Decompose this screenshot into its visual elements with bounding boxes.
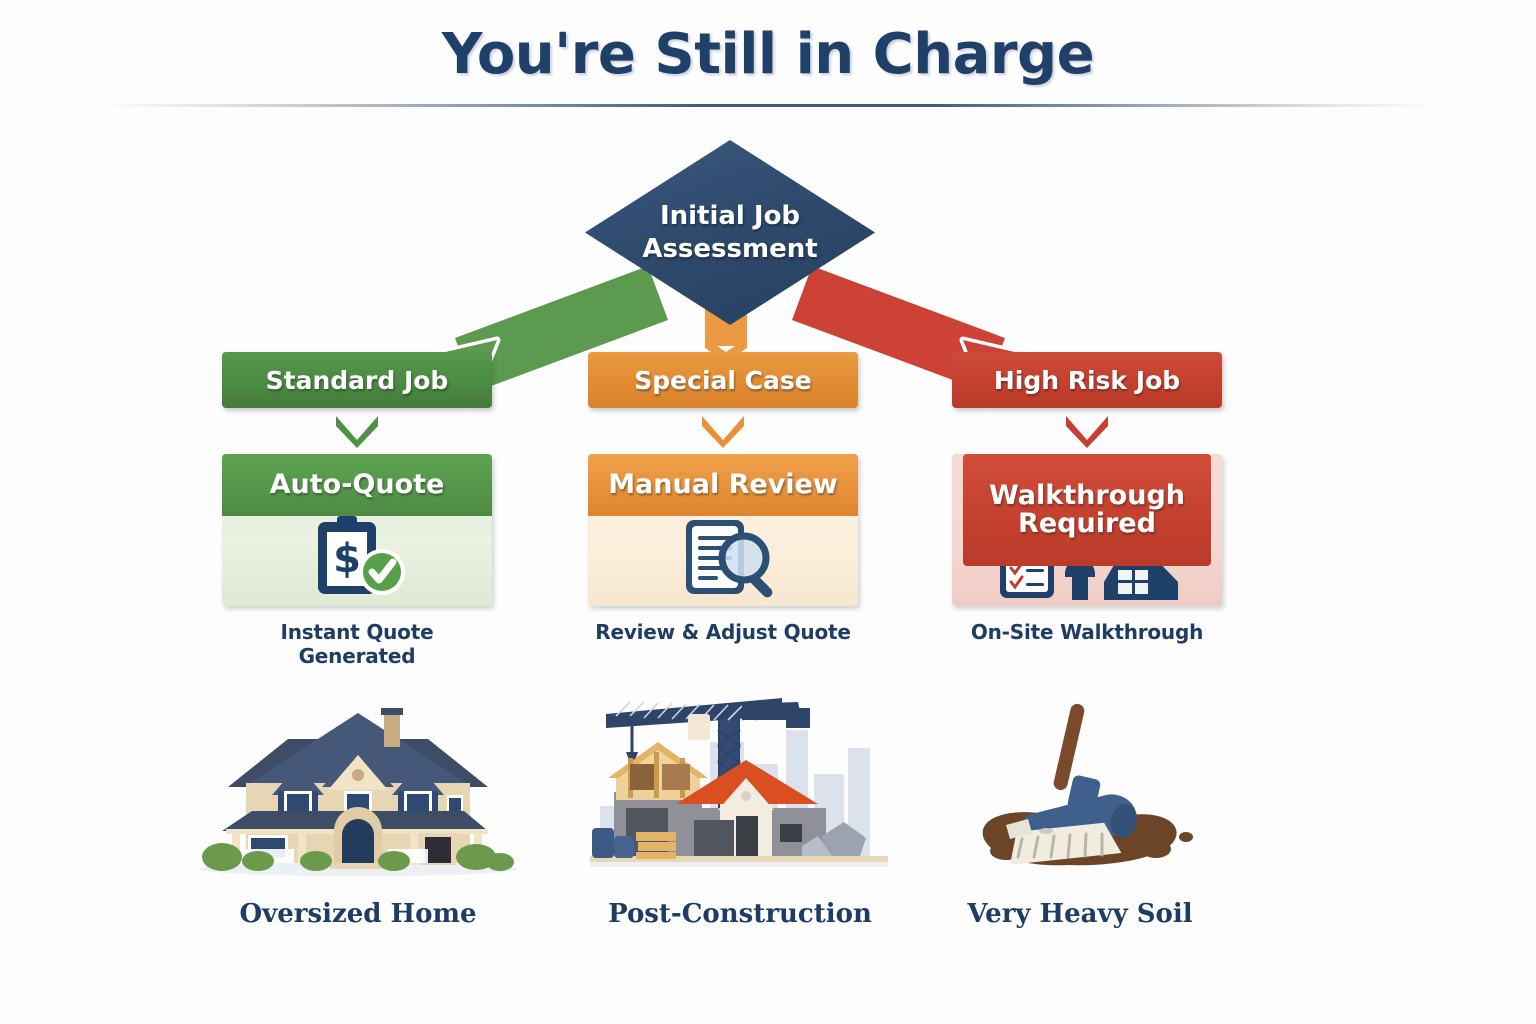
card-manual-review-title-text: Manual Review <box>608 471 838 499</box>
card-walkthrough-required[interactable]: Walkthrough Required <box>952 454 1222 606</box>
diamond-label-line1: Initial Job <box>660 200 800 233</box>
banner-standard-job-label: Standard Job <box>266 366 449 395</box>
infographic-canvas: You're Still in Charge Initial Job As <box>0 0 1536 1024</box>
card-auto-quote-title-text: Auto-Quote <box>270 471 445 499</box>
page-title: You're Still in Charge <box>0 22 1536 87</box>
example-oversized-home: Oversized Home <box>178 686 538 929</box>
banner-high-risk-job-label: High Risk Job <box>994 366 1180 395</box>
large-suburban-house-illustration <box>178 686 538 881</box>
diamond-label-line2: Assessment <box>642 233 817 266</box>
card-walkthrough-title-line1: Walkthrough <box>989 482 1185 510</box>
example-caption-post-construction: Post-Construction <box>560 899 920 929</box>
card-manual-review[interactable]: Manual Review <box>588 454 858 606</box>
banner-high-risk-job[interactable]: High Risk Job <box>952 352 1222 408</box>
card-manual-review-title: Manual Review <box>588 454 858 516</box>
svg-text:$: $ <box>333 536 361 582</box>
diamond-label: Initial Job Assessment <box>585 140 875 325</box>
construction-site-crane-illustration <box>560 686 920 881</box>
caption-on-site-walkthrough: On-Site Walkthrough <box>952 620 1222 644</box>
title-divider <box>98 104 1440 107</box>
branch-special: Special Case <box>588 352 858 644</box>
banner-special-case-label: Special Case <box>634 366 811 395</box>
example-caption-oversized-home: Oversized Home <box>178 899 538 929</box>
push-broom-on-mud-illustration <box>900 686 1260 881</box>
example-caption-very-heavy-soil: Very Heavy Soil <box>900 899 1260 929</box>
banner-special-case[interactable]: Special Case <box>588 352 858 408</box>
card-walkthrough-title: Walkthrough Required <box>963 454 1211 566</box>
caption-review-adjust: Review & Adjust Quote <box>588 620 858 644</box>
card-auto-quote[interactable]: $ Auto-Quote <box>222 454 492 606</box>
branch-standard: Standard Job $ <box>222 352 492 668</box>
clipboard-dollar-check-icon: $ <box>222 514 492 600</box>
card-auto-quote-title: Auto-Quote <box>222 454 492 516</box>
chevron-down-icon-high-risk <box>1064 414 1110 448</box>
caption-instant-quote: Instant Quote Generated <box>222 620 492 668</box>
card-walkthrough-title-line2: Required <box>1018 510 1156 538</box>
initial-job-assessment-node[interactable]: Initial Job Assessment <box>585 140 875 325</box>
example-very-heavy-soil: Very Heavy Soil <box>900 686 1260 929</box>
branch-high-risk: High Risk Job <box>952 352 1222 644</box>
chevron-down-icon-standard <box>334 414 380 448</box>
banner-standard-job[interactable]: Standard Job <box>222 352 492 408</box>
document-magnifier-icon <box>588 514 858 600</box>
example-post-construction: Post-Construction <box>560 686 920 929</box>
chevron-down-icon-special <box>700 414 746 448</box>
